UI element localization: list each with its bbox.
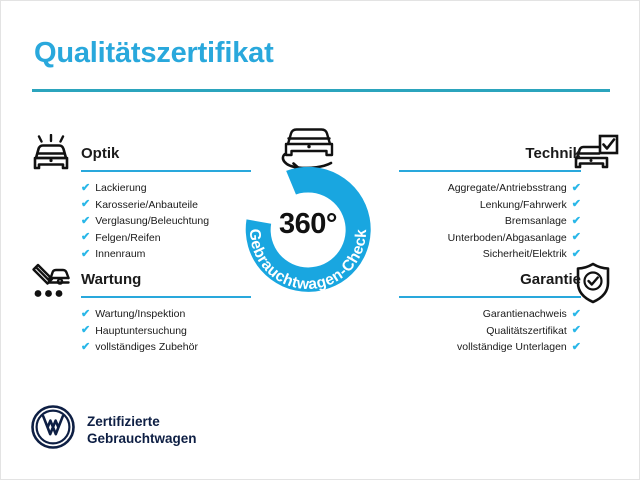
list-item: Unterboden/Abgasanlage ✔: [399, 230, 581, 247]
list-item: ✔ Felgen/Reifen: [81, 230, 251, 247]
page-title: Qualitätszertifikat: [34, 37, 274, 70]
check-icon: ✔: [81, 325, 90, 336]
list-item: Qualitätszertifikat ✔: [399, 323, 581, 340]
section-title: Wartung: [81, 270, 251, 290]
checklist-garantie: Garantienachweis ✔ Qualitätszertifikat ✔…: [399, 306, 581, 356]
list-item-label: Karosserie/Anbauteile: [95, 197, 198, 214]
checklist-technik: Aggregate/Antriebsstrang ✔ Lenkung/Fahrw…: [399, 180, 581, 263]
list-item-label: Bremsanlage: [505, 213, 567, 230]
brand-text: Zertifizierte Gebrauchtwagen: [87, 413, 197, 447]
list-item: ✔ Lackierung: [81, 180, 251, 197]
check-icon: ✔: [572, 216, 581, 227]
list-item-label: Aggregate/Antriebsstrang: [448, 180, 567, 197]
check-icon: ✔: [81, 342, 90, 353]
list-item-label: vollständiges Zubehör: [95, 339, 198, 356]
list-item-label: Sicherheit/Elektrik: [483, 246, 567, 263]
badge-degrees-label: 360°: [233, 208, 383, 241]
list-item: ✔ Wartung/Inspektion: [81, 306, 251, 323]
check-icon: ✔: [572, 249, 581, 260]
header-divider: [32, 89, 610, 92]
list-item: ✔ Verglasung/Beleuchtung: [81, 213, 251, 230]
check-icon: ✔: [81, 183, 90, 194]
list-item: ✔ Innenraum: [81, 246, 251, 263]
section-divider: [81, 170, 251, 172]
list-item-label: Lackierung: [95, 180, 146, 197]
list-item: Garantienachweis ✔: [399, 306, 581, 323]
section-header-garantie: Garantie: [399, 270, 581, 298]
check-icon: ✔: [81, 216, 90, 227]
list-item-label: Hauptuntersuchung: [95, 323, 187, 340]
list-item-label: Unterboden/Abgasanlage: [448, 230, 567, 247]
list-item-label: Lenkung/Fahrwerk: [480, 197, 567, 214]
brand-lockup: Zertifizierte Gebrauchtwagen: [31, 405, 197, 454]
list-item-label: Innenraum: [95, 246, 145, 263]
check-icon: ✔: [81, 232, 90, 243]
list-item: Aggregate/Antriebsstrang ✔: [399, 180, 581, 197]
list-item: vollständige Unterlagen ✔: [399, 339, 581, 356]
check-icon: ✔: [572, 199, 581, 210]
checklist-optik: ✔ Lackierung ✔ Karosserie/Anbauteile ✔ V…: [81, 180, 251, 263]
list-item: ✔ Karosserie/Anbauteile: [81, 197, 251, 214]
section-title: Technik: [399, 144, 581, 164]
check-icon: ✔: [572, 309, 581, 320]
section-divider: [399, 296, 581, 298]
section-header-wartung: Wartung: [81, 270, 251, 298]
list-item: ✔ Hauptuntersuchung: [81, 323, 251, 340]
list-item: Sicherheit/Elektrik ✔: [399, 246, 581, 263]
list-item-label: Qualitätszertifikat: [486, 323, 567, 340]
section-header-optik: Optik: [81, 144, 251, 172]
list-item: ✔ vollständiges Zubehör: [81, 339, 251, 356]
section-header-technik: Technik: [399, 144, 581, 172]
list-item-label: vollständige Unterlagen: [457, 339, 567, 356]
check-icon: ✔: [572, 325, 581, 336]
section-optik: Optik ✔ Lackierung ✔ Karosserie/Anbautei…: [81, 144, 251, 263]
list-item-label: Verglasung/Beleuchtung: [95, 213, 209, 230]
section-divider: [399, 170, 581, 172]
check-icon: ✔: [572, 342, 581, 353]
car-shine-icon: [29, 134, 73, 176]
check-icon: ✔: [572, 183, 581, 194]
certificate-page: Qualitätszertifikat: [0, 0, 640, 480]
check-icon: ✔: [81, 199, 90, 210]
section-garantie: Garantie Garantienachweis ✔ Qualitätszer…: [399, 270, 581, 356]
360-check-badge: Gebrauchtwagen-Check 360°: [233, 156, 383, 306]
list-item-label: Felgen/Reifen: [95, 230, 160, 247]
list-item: Lenkung/Fahrwerk ✔: [399, 197, 581, 214]
check-icon: ✔: [572, 232, 581, 243]
section-title: Optik: [81, 144, 251, 164]
section-wartung: Wartung ✔ Wartung/Inspektion ✔ Hauptunte…: [81, 270, 251, 356]
list-item: Bremsanlage ✔: [399, 213, 581, 230]
wrench-car-icon: [29, 260, 73, 302]
check-icon: ✔: [81, 309, 90, 320]
check-icon: ✔: [81, 249, 90, 260]
vw-logo-icon: [31, 405, 75, 454]
list-item-label: Wartung/Inspektion: [95, 306, 185, 323]
checklist-wartung: ✔ Wartung/Inspektion ✔ Hauptuntersuchung…: [81, 306, 251, 356]
section-divider: [81, 296, 251, 298]
section-title: Garantie: [399, 270, 581, 290]
section-technik: Technik Aggregate/Antriebsstrang ✔ Lenku…: [399, 144, 581, 263]
list-item-label: Garantienachweis: [483, 306, 567, 323]
